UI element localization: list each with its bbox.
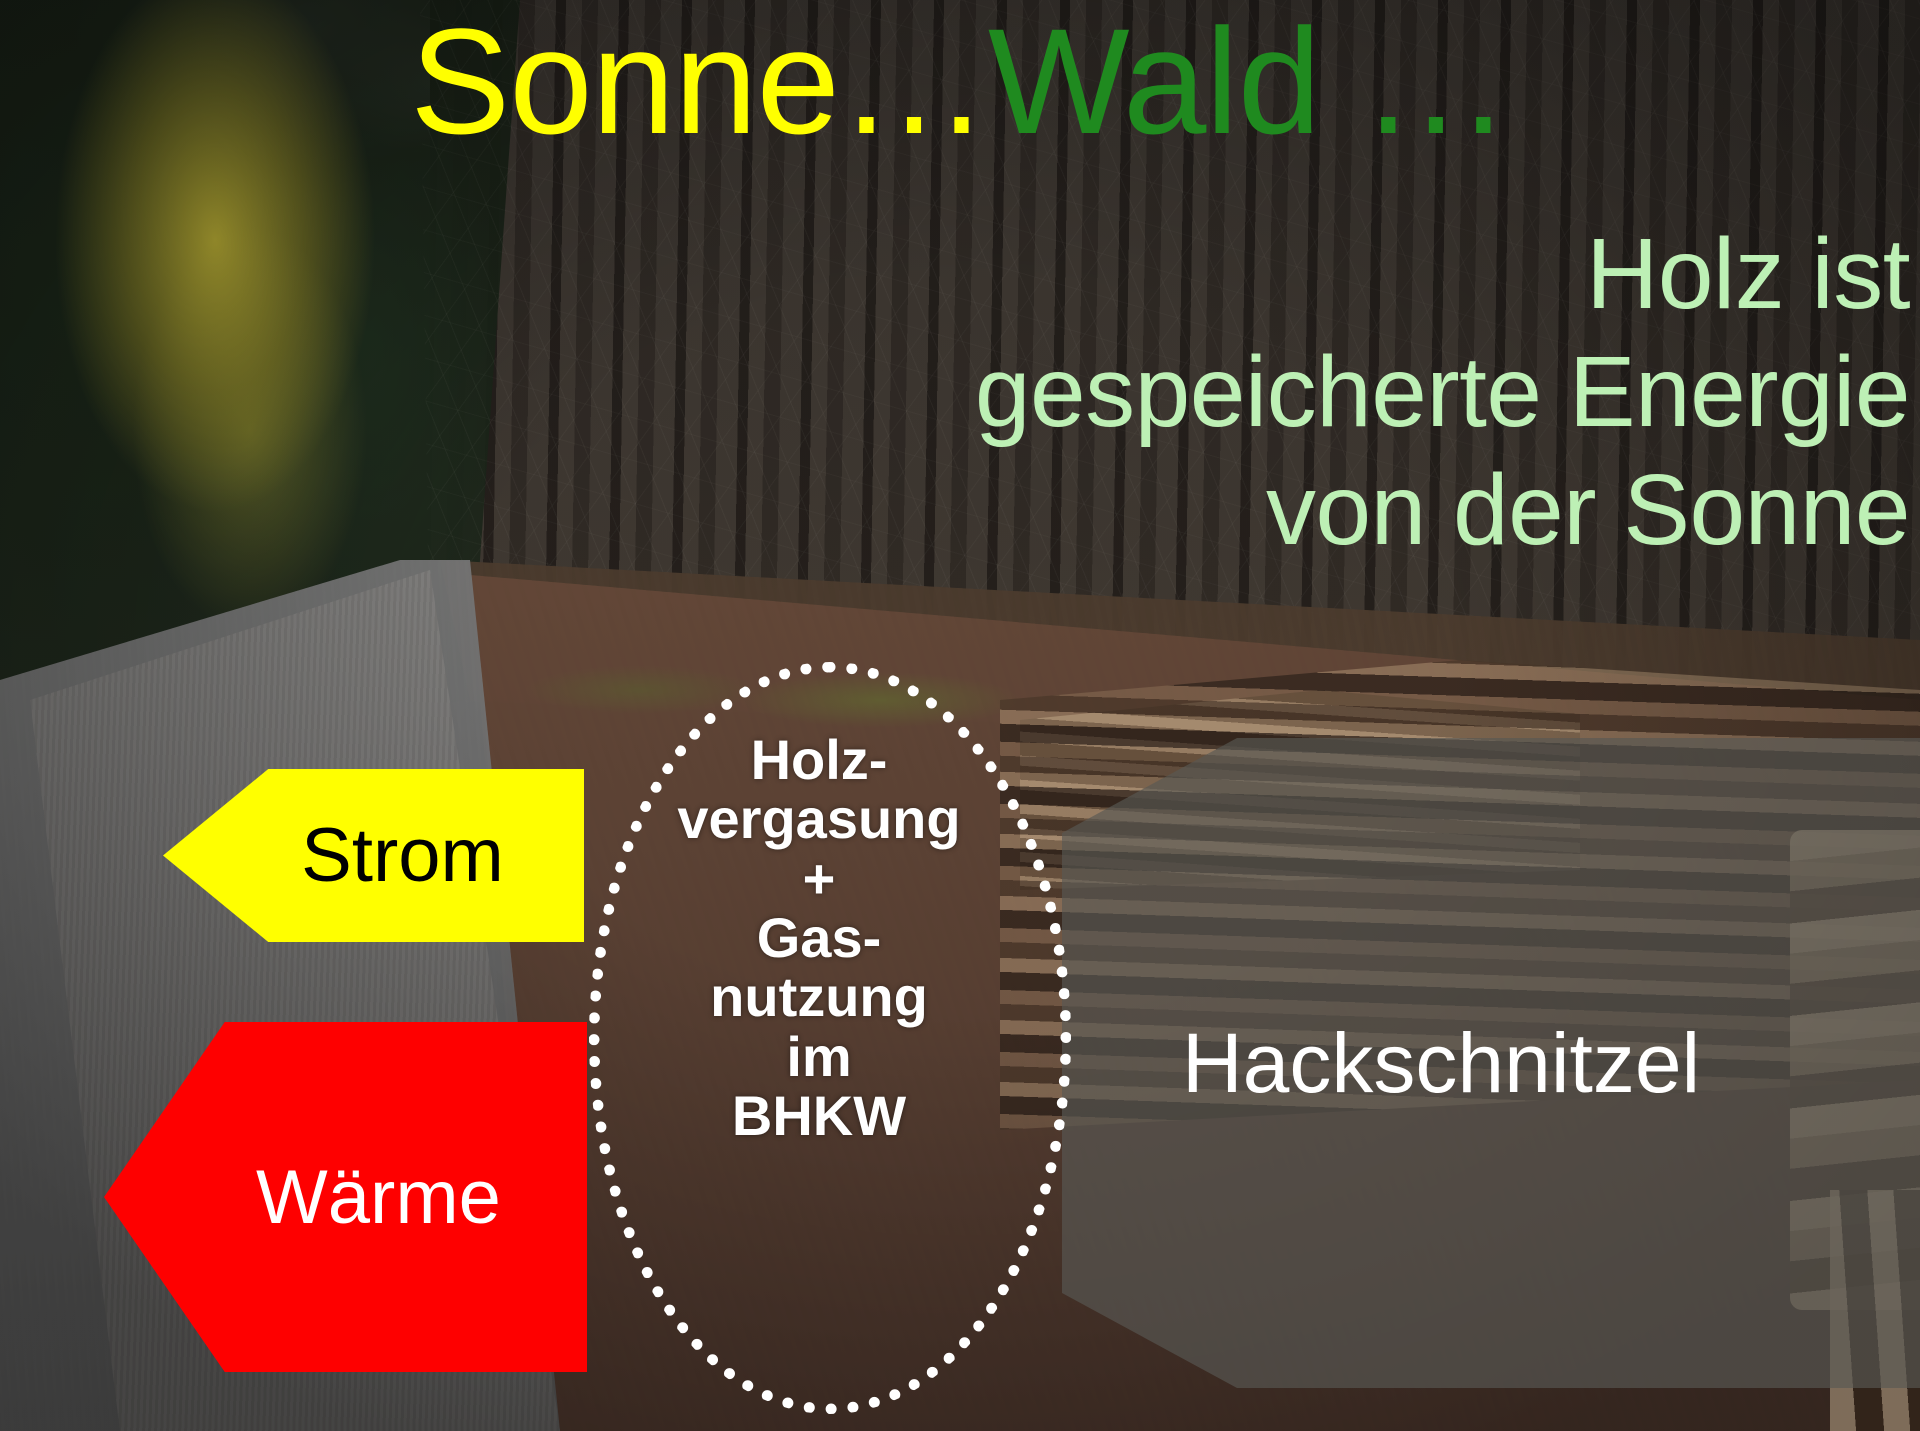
hackschnitzel-label: Hackschnitzel [1062,1015,1700,1112]
slide-subtitle: Holz ist gespeicherte Energie von der So… [430,215,1910,569]
process-ellipse-text: Holz- vergasung + Gas- nutzung im BHKW [589,730,1049,1146]
subtitle-line-1: Holz ist [430,215,1910,333]
slide-title: Sonne…Wald … [0,6,1920,156]
subtitle-line-2: gespeicherte Energie [430,333,1910,451]
waerme-label: Wärme [190,1154,501,1241]
subtitle-line-3: von der Sonne [430,451,1910,569]
process-line-plus: + [589,849,1049,908]
process-line-6: im [589,1027,1049,1086]
presentation-slide: Sonne…Wald … Holz ist gespeicherte Energ… [0,0,1920,1431]
hackschnitzel-arrow: Hackschnitzel [1062,738,1920,1388]
title-part-sonne: Sonne… [410,0,988,165]
process-line-4: Gas- [589,908,1049,967]
title-part-wald: Wald … [988,0,1510,165]
process-line-5: nutzung [589,967,1049,1026]
process-line-2: vergasung [589,789,1049,848]
strom-label: Strom [243,812,504,899]
process-line-1: Holz- [589,730,1049,789]
process-line-7: BHKW [589,1086,1049,1145]
